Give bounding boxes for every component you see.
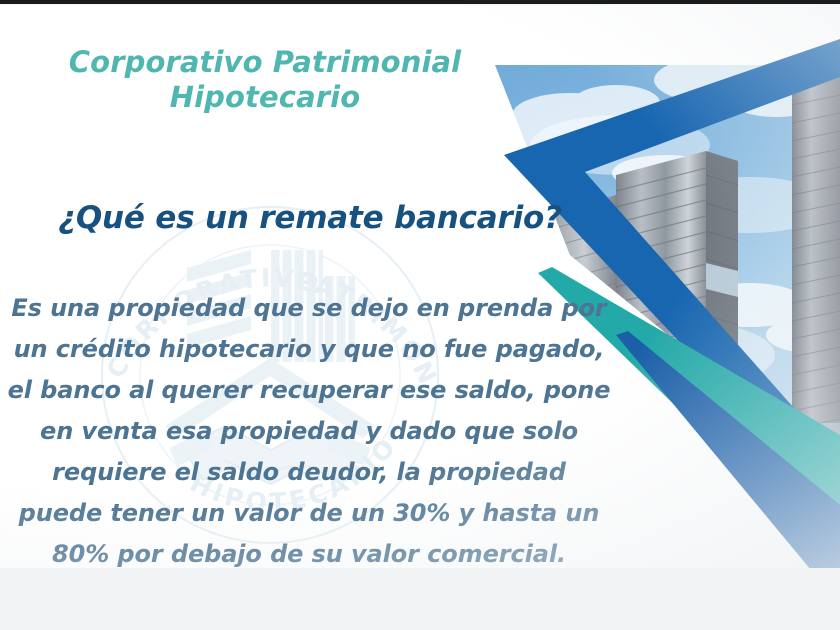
- body-line: Es una propiedad que se dejo en prenda p…: [0, 288, 618, 329]
- brand-title-line2: Hipotecario: [0, 80, 530, 115]
- body-copy: Es una propiedad que se dejo en prenda p…: [0, 288, 618, 568]
- body-line: un crédito hipotecario y que no fue paga…: [0, 329, 618, 370]
- brand-title-line1: Corporativo Patrimonial: [69, 45, 461, 79]
- top-letterbox-bar: [0, 0, 840, 4]
- flyer-card: CORPORATIVO PATRIMONIAL HIPOTECARIO Corp…: [0, 5, 840, 568]
- body-line: puede tener un valor de un 30% y hasta u…: [0, 493, 618, 534]
- body-line: requiere el saldo deudor, la propiedad: [0, 452, 618, 493]
- body-line: el banco al querer recuperar ese saldo, …: [0, 370, 618, 411]
- screenshot-canvas: CORPORATIVO PATRIMONIAL HIPOTECARIO Corp…: [0, 0, 840, 630]
- brand-title: Corporativo Patrimonial Hipotecario: [0, 45, 530, 116]
- body-line: 80% por debajo de su valor comercial.: [0, 534, 618, 568]
- headline: ¿Qué es un remate bancario?: [0, 201, 620, 235]
- bottom-letterbox-bar: [0, 568, 840, 630]
- body-line: en venta esa propiedad y dado que solo: [0, 411, 618, 452]
